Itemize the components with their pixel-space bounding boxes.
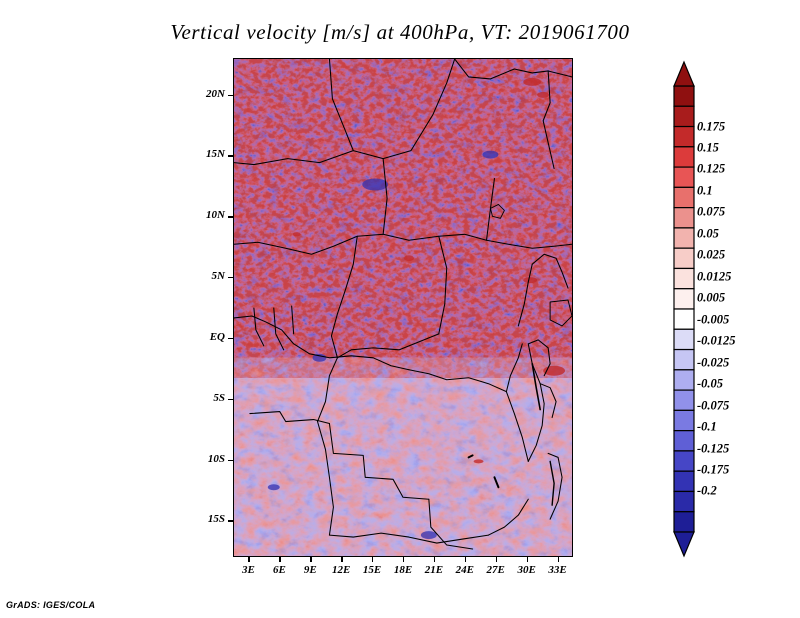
y-axis-label: 15N	[187, 148, 225, 160]
colorbar-band	[674, 228, 694, 248]
y-axis-label: 20N	[187, 88, 225, 100]
colorbar-tick-label: -0.05	[697, 377, 723, 392]
colorbar-tick-label: 0.1	[697, 183, 713, 198]
vertical-velocity-field	[234, 59, 572, 556]
colorbar-band	[674, 329, 694, 349]
grads-attribution: GrADS: IGES/COLA	[6, 600, 95, 610]
y-axis-tick	[228, 399, 233, 400]
y-axis-tick	[228, 155, 233, 156]
y-axis-tick	[228, 520, 233, 521]
colorbar-tick-label: -0.175	[697, 462, 729, 477]
y-axis-label: EQ	[187, 331, 225, 343]
page-title: Vertical velocity [m/s] at 400hPa, VT: 2…	[0, 20, 800, 45]
colorbar-band	[674, 106, 694, 126]
map-plot-area[interactable]	[233, 58, 573, 557]
colorbar-tick-label: 0.005	[697, 291, 725, 306]
colorbar-tick-label: 0.125	[697, 162, 725, 177]
colorbar	[672, 60, 792, 560]
x-axis-tick	[527, 557, 528, 562]
y-axis-tick	[228, 216, 233, 217]
colorbar-band	[674, 147, 694, 167]
y-axis-label: 10S	[187, 453, 225, 465]
x-axis-tick	[341, 557, 342, 562]
x-axis-tick	[403, 557, 404, 562]
colorbar-max-arrow	[674, 62, 694, 86]
grads-figure: Vertical velocity [m/s] at 400hPa, VT: 2…	[0, 0, 800, 618]
y-axis-label: 5S	[187, 392, 225, 404]
colorbar-tick-label: 0.025	[697, 248, 725, 263]
colorbar-band	[674, 370, 694, 390]
colorbar-band	[674, 127, 694, 147]
colorbar-tick-label: 0.175	[697, 119, 725, 134]
colorbar-band	[674, 268, 694, 288]
x-axis-label: 33E	[540, 564, 576, 576]
y-axis-tick	[228, 95, 233, 96]
y-axis-label: 15S	[187, 513, 225, 525]
colorbar-band	[674, 431, 694, 451]
colorbar-min-arrow	[674, 532, 694, 556]
x-axis-tick	[279, 557, 280, 562]
colorbar-band	[674, 512, 694, 532]
colorbar-tick-label: 0.05	[697, 226, 719, 241]
colorbar-band	[674, 86, 694, 106]
colorbar-tick-label: -0.0125	[697, 334, 736, 349]
colorbar-band	[674, 491, 694, 511]
y-axis-label: 5N	[187, 270, 225, 282]
y-axis-tick	[228, 460, 233, 461]
colorbar-band	[674, 289, 694, 309]
colorbar-band	[674, 471, 694, 491]
colorbar-tick-label: -0.025	[697, 355, 729, 370]
colorbar-band	[674, 167, 694, 187]
y-axis-tick	[228, 338, 233, 339]
colorbar-band	[674, 187, 694, 207]
colorbar-band	[674, 451, 694, 471]
y-axis-label: 10N	[187, 209, 225, 221]
colorbar-band	[674, 410, 694, 430]
colorbar-band	[674, 309, 694, 329]
colorbar-tick-label: 0.15	[697, 141, 719, 156]
colorbar-tick-label: -0.1	[697, 420, 717, 435]
colorbar-tick-label: 0.075	[697, 205, 725, 220]
colorbar-tick-label: -0.2	[697, 484, 717, 499]
colorbar-band	[674, 350, 694, 370]
colorbar-tick-label: -0.075	[697, 398, 729, 413]
x-axis-tick	[558, 557, 559, 562]
colorbar-band	[674, 208, 694, 228]
x-axis-tick	[372, 557, 373, 562]
x-axis-tick	[465, 557, 466, 562]
colorbar-tick-label: 0.0125	[697, 269, 731, 284]
colorbar-tick-label: -0.005	[697, 312, 729, 327]
x-axis-tick	[496, 557, 497, 562]
y-axis-tick	[228, 277, 233, 278]
colorbar-band	[674, 248, 694, 268]
x-axis-tick	[434, 557, 435, 562]
colorbar-tick-label: -0.125	[697, 441, 729, 456]
x-axis-tick	[310, 557, 311, 562]
colorbar-band	[674, 390, 694, 410]
x-axis-tick	[248, 557, 249, 562]
